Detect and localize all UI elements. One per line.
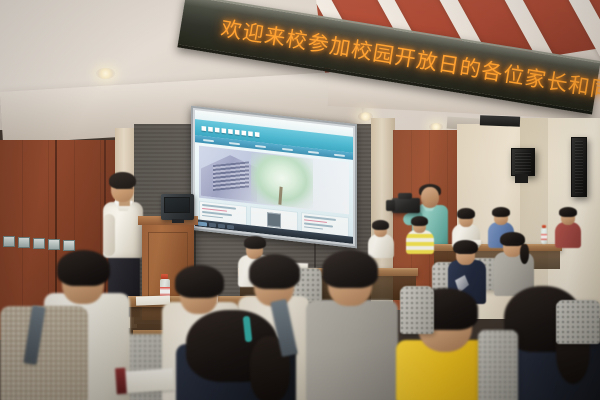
bottle-cap	[161, 274, 168, 279]
ceiling-mounted-speaker	[480, 115, 520, 126]
glasses-icon	[457, 252, 473, 256]
content-thumbnail	[267, 212, 281, 228]
video-camera	[392, 198, 420, 213]
column-speaker	[571, 137, 587, 197]
slide-content: ■■■■■■■■■	[195, 110, 353, 244]
chair[interactable]	[556, 300, 600, 344]
chair[interactable]	[478, 330, 518, 400]
water-bottle	[541, 228, 547, 244]
hero-tree	[251, 152, 313, 209]
wall-switch-plate[interactable]	[63, 240, 75, 251]
monitor-stand	[172, 219, 184, 223]
projection-screen: ■■■■■■■■■	[191, 106, 357, 249]
notebook-spine	[115, 368, 127, 395]
audience-hair	[57, 250, 110, 286]
camera-lens-icon	[386, 200, 395, 211]
lecture-hall-photo: 欢迎来校参加校园开放日的各位家长和同学 ■■■■■■■■■	[0, 0, 600, 400]
glasses-icon	[504, 243, 520, 247]
bottle-cap	[542, 225, 546, 228]
start-button-icon	[198, 221, 207, 226]
wall-switch-plate[interactable]	[3, 236, 15, 247]
hero-building-windows	[213, 161, 249, 191]
audience-hair	[249, 254, 300, 289]
wall-speaker	[511, 148, 535, 176]
wall-switch-plate[interactable]	[18, 237, 30, 248]
podium-monitor	[161, 194, 194, 220]
glasses-icon	[116, 188, 133, 193]
wall-switch-plate[interactable]	[33, 238, 45, 249]
wall-switch-plate[interactable]	[48, 239, 60, 250]
camera-mic	[398, 193, 412, 199]
wall-speaker-bracket	[515, 174, 528, 183]
audience-hair	[322, 250, 378, 288]
chair[interactable]	[400, 286, 434, 334]
ceiling-downlight	[96, 68, 115, 79]
audience-hair	[175, 265, 224, 298]
audience-person	[0, 306, 88, 400]
audience-person	[306, 300, 398, 400]
